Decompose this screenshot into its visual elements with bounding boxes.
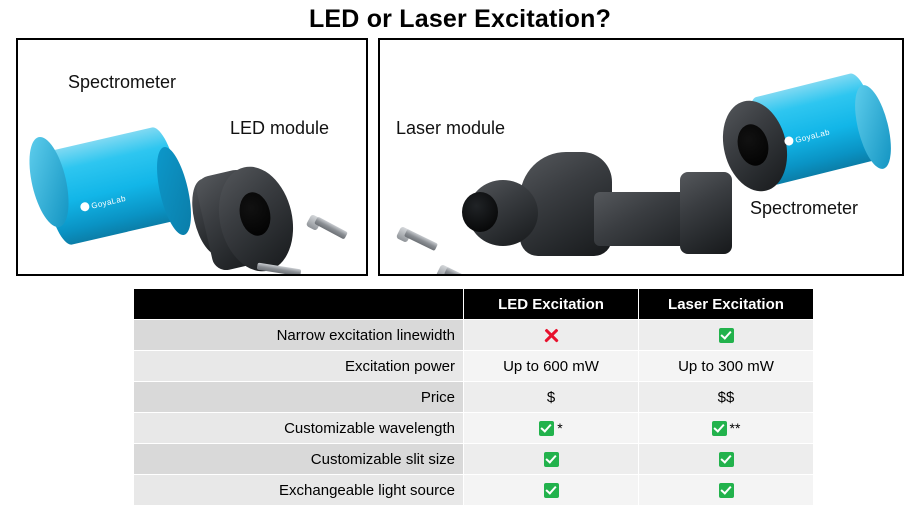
table-row: Customizable wavelength*** bbox=[134, 413, 814, 444]
table-body: Narrow excitation linewidthExcitation po… bbox=[134, 320, 814, 506]
illustration-panels: GoyaLab Spectrometer LED module bbox=[16, 38, 904, 276]
table-row-label: Customizable wavelength bbox=[134, 413, 464, 444]
check-icon bbox=[539, 421, 554, 436]
check-icon bbox=[544, 483, 559, 498]
goyalab-logo-mark-right bbox=[783, 136, 794, 147]
table-cell-laser: ** bbox=[639, 413, 814, 444]
table-row-label: Price bbox=[134, 382, 464, 413]
laser-illustration-panel: GoyaLab Laser module Spectrometer bbox=[378, 38, 904, 276]
led-illustration-panel: GoyaLab Spectrometer LED module bbox=[16, 38, 368, 276]
cell-text: Up to 600 mW bbox=[503, 358, 599, 375]
table-row: Excitation powerUp to 600 mWUp to 300 mW bbox=[134, 351, 814, 382]
table-cell-laser bbox=[639, 320, 814, 351]
table-row-label: Customizable slit size bbox=[134, 444, 464, 475]
spectrometer-label-right: Spectrometer bbox=[750, 198, 858, 219]
table-row-label: Excitation power bbox=[134, 351, 464, 382]
table-cell-led: * bbox=[464, 413, 639, 444]
page-title: LED or Laser Excitation? bbox=[0, 0, 920, 34]
cell-text: $$ bbox=[718, 389, 735, 406]
laser-module-lens bbox=[462, 192, 498, 232]
footnote-marker: ** bbox=[730, 420, 741, 436]
check-icon bbox=[544, 452, 559, 467]
table-cell-laser: Up to 300 mW bbox=[639, 351, 814, 382]
table-cell-led: $ bbox=[464, 382, 639, 413]
spectrometer-label-left: Spectrometer bbox=[68, 72, 176, 93]
table-cell-led bbox=[464, 475, 639, 506]
led-module-label: LED module bbox=[230, 118, 329, 139]
table-cell-laser bbox=[639, 444, 814, 475]
table-row: Customizable slit size bbox=[134, 444, 814, 475]
table-cell-led: Up to 600 mW bbox=[464, 351, 639, 382]
screw-shaft-left bbox=[314, 216, 348, 239]
cross-icon bbox=[543, 327, 559, 343]
table-cell-laser: $$ bbox=[639, 382, 814, 413]
led-setup-artwork: GoyaLab Spectrometer LED module bbox=[18, 40, 366, 274]
table-row-label: Exchangeable light source bbox=[134, 475, 464, 506]
table-cell-led bbox=[464, 320, 639, 351]
table-row-label: Narrow excitation linewidth bbox=[134, 320, 464, 351]
laser-setup-artwork: GoyaLab Laser module Spectrometer bbox=[380, 40, 902, 274]
cell-text: $ bbox=[547, 389, 555, 406]
table-cell-laser bbox=[639, 475, 814, 506]
screw-shaft-right-1 bbox=[404, 229, 438, 251]
screw-shaft-right-2 bbox=[444, 267, 478, 276]
check-icon bbox=[719, 483, 734, 498]
table-header-led: LED Excitation bbox=[464, 289, 639, 320]
table-row: Narrow excitation linewidth bbox=[134, 320, 814, 351]
table-header-empty bbox=[134, 289, 464, 320]
check-icon bbox=[712, 421, 727, 436]
table-row: Price$$$ bbox=[134, 382, 814, 413]
table-head: LED Excitation Laser Excitation bbox=[134, 289, 814, 320]
table-row: Exchangeable light source bbox=[134, 475, 814, 506]
table-cell-led bbox=[464, 444, 639, 475]
comparison-table-wrap: LED Excitation Laser Excitation Narrow e… bbox=[133, 288, 813, 506]
table-header-row: LED Excitation Laser Excitation bbox=[134, 289, 814, 320]
laser-module-label: Laser module bbox=[396, 118, 505, 139]
check-icon bbox=[719, 452, 734, 467]
laser-module-mount bbox=[680, 172, 732, 254]
table-header-laser: Laser Excitation bbox=[639, 289, 814, 320]
cell-text: Up to 300 mW bbox=[678, 358, 774, 375]
comparison-table: LED Excitation Laser Excitation Narrow e… bbox=[133, 288, 814, 506]
goyalab-logo-mark-left bbox=[79, 201, 90, 212]
check-icon bbox=[719, 328, 734, 343]
footnote-marker: * bbox=[557, 420, 562, 436]
